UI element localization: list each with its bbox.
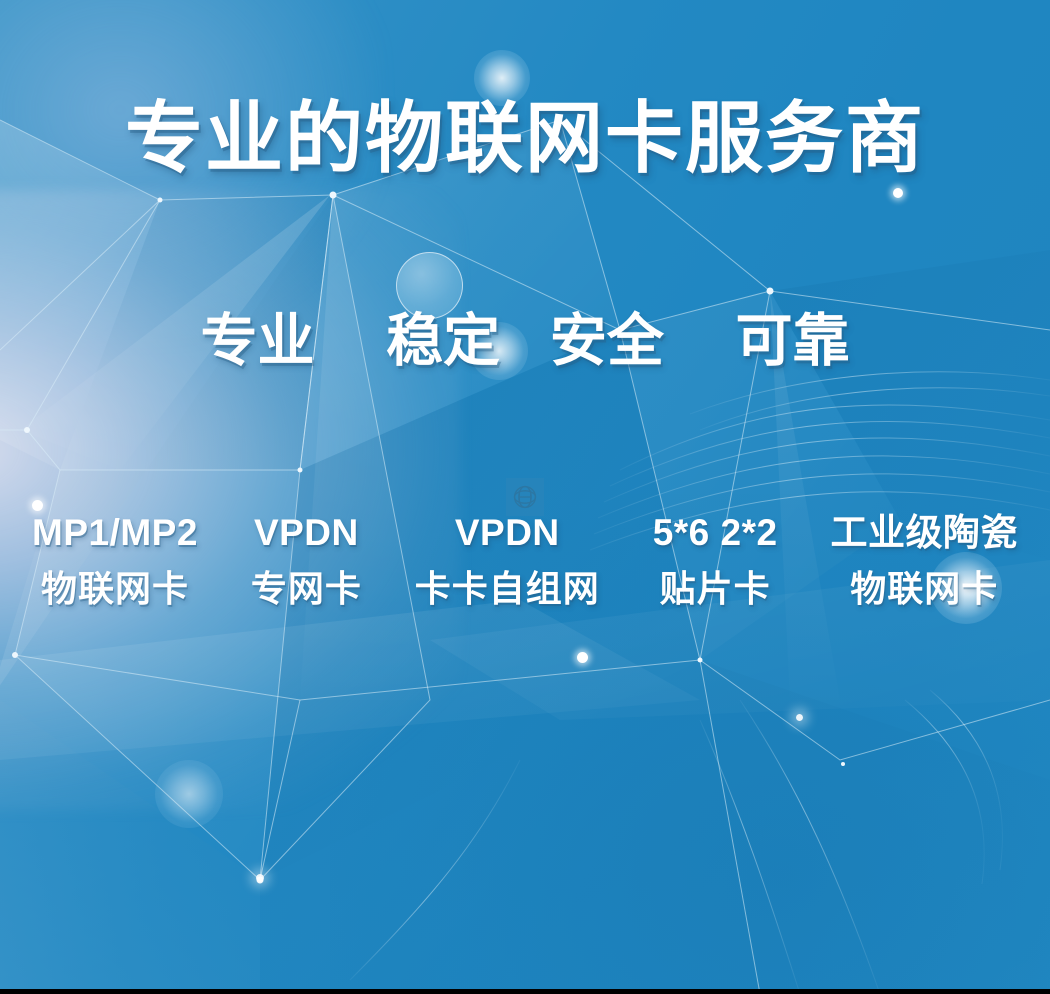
feature-subtitle: 贴片卡 [653,561,778,617]
feature-title: VPDN [415,505,600,561]
feature-item: 5*6 2*2 贴片卡 [653,505,778,616]
feature-item: VPDN 卡卡自组网 [415,505,600,616]
feature-subtitle: 物联网卡 [830,561,1018,617]
feature-item: MP1/MP2 物联网卡 [32,505,198,616]
feature-subtitle: 物联网卡 [32,561,198,617]
subtitle-word-1: 专业 [200,310,314,373]
feature-list: MP1/MP2 物联网卡 VPDN 专网卡 VPDN 卡卡自组网 5*6 2*2… [0,505,1050,616]
feature-title: VPDN [251,505,362,561]
bottom-black-bar [0,989,1050,994]
banner-subtitle: 专业 稳定 安全 可靠 [0,310,1050,373]
feature-title: 工业级陶瓷 [830,505,1018,561]
feature-subtitle: 卡卡自组网 [415,561,600,617]
feature-title: 5*6 2*2 [653,505,778,561]
subtitle-word-3: 安全 [550,310,664,373]
iot-card-banner: 专业的物联网卡服务商 专业 稳定 安全 可靠 MP1/MP2 物联网卡 VPDN… [0,0,1050,994]
feature-title: MP1/MP2 [32,505,198,561]
feature-item: 工业级陶瓷 物联网卡 [830,505,1018,616]
subtitle-word-2: 稳定 [386,310,500,373]
banner-title: 专业的物联网卡服务商 [0,98,1050,180]
subtitle-word-4: 可靠 [736,310,850,373]
feature-subtitle: 专网卡 [251,561,362,617]
banner-content: 专业的物联网卡服务商 专业 稳定 安全 可靠 MP1/MP2 物联网卡 VPDN… [0,0,1050,994]
feature-item: VPDN 专网卡 [251,505,362,616]
